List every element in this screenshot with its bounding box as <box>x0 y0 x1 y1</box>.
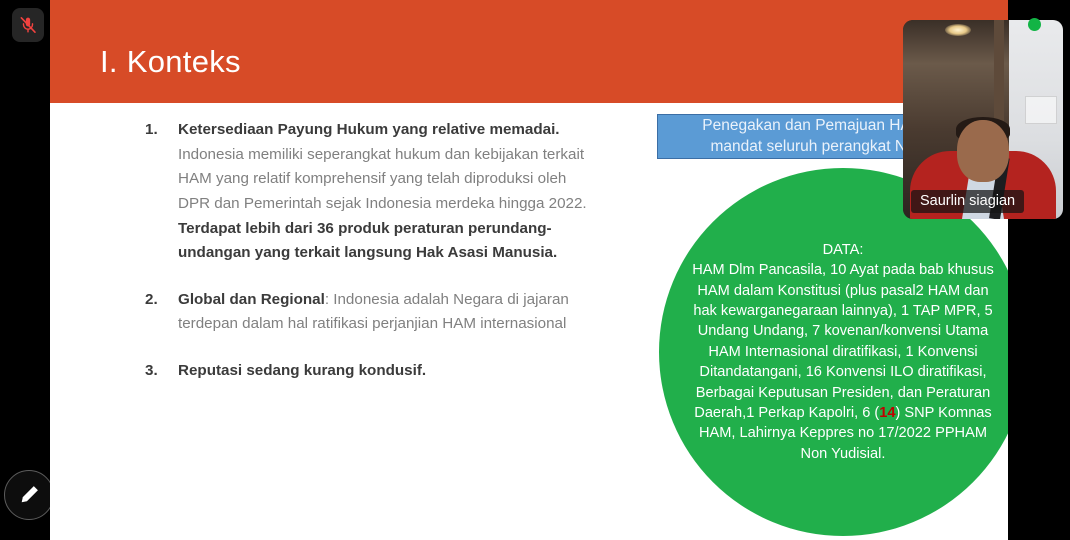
data-circle-callout: DATA:HAM Dlm Pancasila, 10 Ayat pada bab… <box>659 168 1008 536</box>
list-item-number: 2. <box>145 288 178 313</box>
list-item-lead: Global dan Regional <box>178 291 325 308</box>
data-circle-highlight: 14 <box>879 405 895 421</box>
participant-name-label: Saurlin siagian <box>911 190 1024 213</box>
data-circle-heading: DATA: <box>823 242 864 258</box>
list-item-number: 3. <box>145 359 178 384</box>
microphone-muted-icon[interactable] <box>12 8 44 42</box>
left-toolbar <box>0 0 50 540</box>
list-item-lead: Ketersediaan Payung Hukum yang relative … <box>178 121 560 138</box>
list-item-text: Ketersediaan Payung Hukum yang relative … <box>178 118 600 266</box>
video-ceiling-light <box>945 24 971 36</box>
banner-line-2: mandat seluruh perangkat NEG <box>711 137 929 158</box>
list-item: 3. Reputasi sedang kurang kondusif. <box>145 359 600 384</box>
status-badge <box>1028 18 1041 31</box>
video-shelf <box>1025 96 1057 124</box>
list-item-tail: Terdapat lebih dari 36 produk peraturan … <box>178 220 557 262</box>
bullet-list: 1. Ketersediaan Payung Hukum yang relati… <box>145 118 600 406</box>
list-item: 1. Ketersediaan Payung Hukum yang relati… <box>145 118 600 266</box>
data-circle-body-before: HAM Dlm Pancasila, 10 Ayat pada bab khus… <box>692 262 994 421</box>
data-circle-text: DATA:HAM Dlm Pancasila, 10 Ayat pada bab… <box>688 240 998 465</box>
list-item-body: Indonesia memiliki seperangkat hukum dan… <box>178 146 587 212</box>
list-item: 2. Global dan Regional: Indonesia adalah… <box>145 288 600 337</box>
list-item-lead: Reputasi sedang kurang kondusif. <box>178 362 426 379</box>
shared-slide: I. Konteks 1. Ketersediaan Payung Hukum … <box>50 0 1008 540</box>
list-item-text: Global dan Regional: Indonesia adalah Ne… <box>178 288 600 337</box>
banner-line-1: Penegakan dan Pemajuan HAM a <box>702 116 936 137</box>
pencil-icon[interactable] <box>4 470 54 520</box>
list-item-text: Reputasi sedang kurang kondusif. <box>178 359 600 384</box>
meeting-screen-share-view: I. Konteks 1. Ketersediaan Payung Hukum … <box>0 0 1070 540</box>
list-item-number: 1. <box>145 118 178 143</box>
page-title: I. Konteks <box>100 46 241 77</box>
participant-face <box>957 120 1009 182</box>
